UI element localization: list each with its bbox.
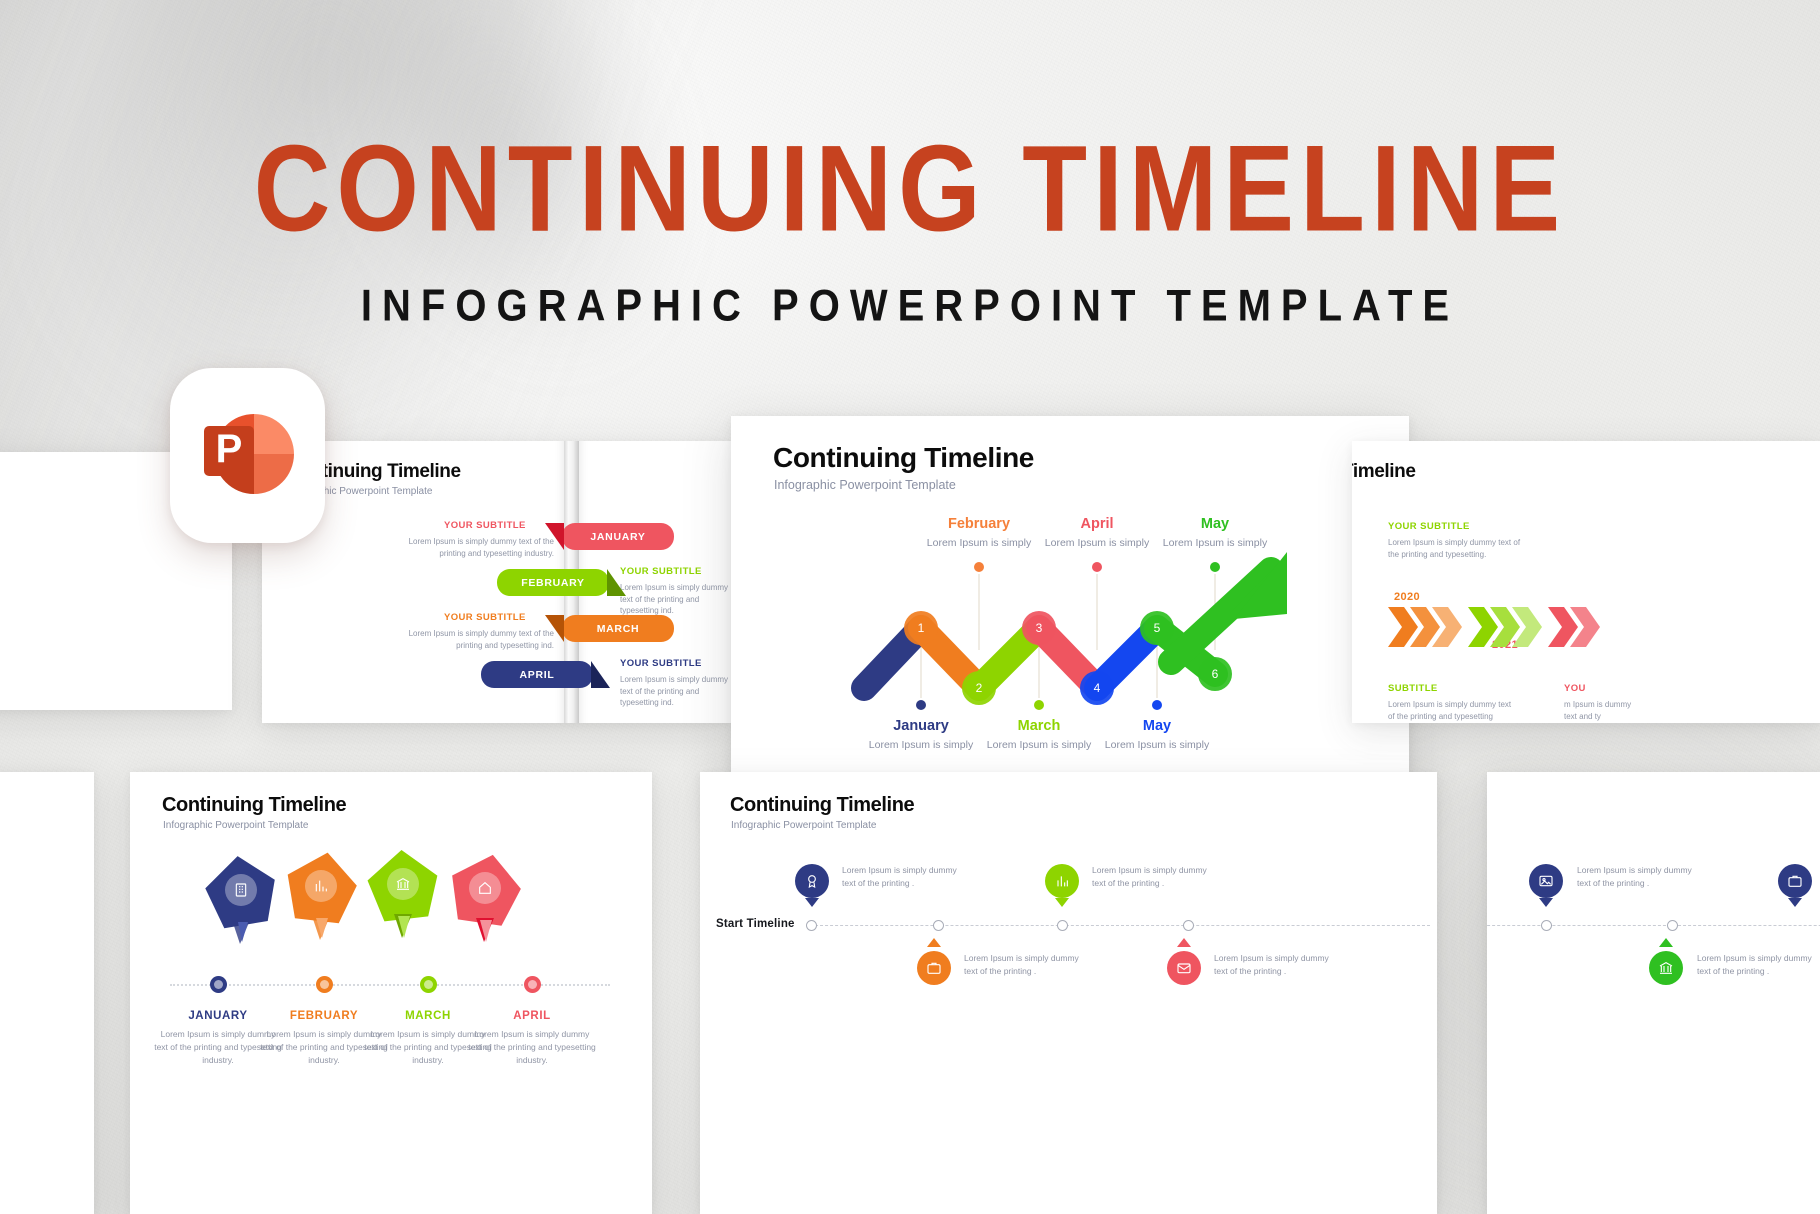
- month-body-april: Lorem Ipsum is simply dummy text of the …: [468, 1028, 596, 1066]
- page-title: CONTINUING TIMELINE: [0, 128, 1820, 251]
- poster-canvas: CONTINUING TIMELINE INFOGRAPHIC POWERPOI…: [0, 0, 1820, 1214]
- chart-bar-icon: [313, 878, 329, 894]
- axis-node-1[interactable]: [933, 920, 944, 931]
- chart-bar-icon: [1054, 873, 1070, 889]
- node-body-orange: Lorem Ipsum is simply dummy text of the …: [964, 952, 1084, 978]
- timeline-dot-march[interactable]: [420, 976, 437, 993]
- slide-g-title: Continuing Timeline: [730, 794, 914, 817]
- briefcase-icon: [1787, 873, 1803, 889]
- zz-body-january: Lorem Ipsum is simply: [856, 738, 986, 753]
- node-pointer-navy-right: [1539, 898, 1553, 907]
- chevrons-orange: [1388, 607, 1462, 647]
- page-subtitle: INFOGRAPHIC POWERPOINT TEMPLATE: [0, 281, 1820, 331]
- timeline-axis-right: [1487, 925, 1820, 926]
- timeline-dot-february[interactable]: [316, 976, 333, 993]
- slide-b-sub-3: YOUR SUBTITLE: [444, 612, 526, 623]
- slide-b-banner-april[interactable]: APRIL: [481, 661, 593, 688]
- zz-label-march: March: [974, 718, 1104, 734]
- timeline-axis: [810, 925, 1430, 926]
- node-pointer-green: [1055, 898, 1069, 907]
- chevrons-green: [1468, 607, 1542, 647]
- axis-node-r0[interactable]: [1541, 920, 1552, 931]
- node-bubble-green-right[interactable]: [1649, 951, 1683, 985]
- zz-body-may-bottom: Lorem Ipsum is simply: [1092, 738, 1222, 753]
- slide-b-banner-january[interactable]: JANUARY: [562, 523, 674, 550]
- slide-preview-zigzag[interactable]: Continuing Timeline Infographic Powerpoi…: [731, 416, 1409, 797]
- slide-c-subtitle: Infographic Powerpoint Template: [774, 478, 956, 492]
- dot-march: [1034, 700, 1044, 710]
- badge-icon: [804, 873, 820, 889]
- slide-preview-pentagon-pins[interactable]: Continuing Timeline Infographic Powerpoi…: [130, 772, 652, 1214]
- bubble-label-6: 6: [1212, 667, 1219, 681]
- slide-b-sub-1: YOUR SUBTITLE: [444, 520, 526, 531]
- bank-icon: [395, 876, 411, 892]
- hero-block: CONTINUING TIMELINE INFOGRAPHIC POWERPOI…: [0, 128, 1820, 329]
- timeline-dot-january[interactable]: [210, 976, 227, 993]
- node-pointer-navy: [805, 898, 819, 907]
- zz-body-april: Lorem Ipsum is simply: [1032, 536, 1162, 551]
- building-icon: [233, 882, 249, 898]
- bubble-label-2: 2: [976, 681, 983, 695]
- slide-b-body-4: Lorem Ipsum is simply dummy text of the …: [620, 674, 732, 709]
- zz-label-april: April: [1032, 516, 1162, 532]
- node-body-green: Lorem Ipsum is simply dummy text of the …: [1092, 864, 1212, 890]
- slide-preview-signpost-pole[interactable]: Continuing Timeline Infographic Powerpoi…: [262, 441, 732, 723]
- node-body-navy-right: Lorem Ipsum is simply dummy text of the …: [1577, 864, 1697, 890]
- chevrons-pink: [1548, 607, 1600, 647]
- timeline-dotted-line: [170, 984, 610, 986]
- month-label-april: APRIL: [468, 1010, 596, 1022]
- zz-body-march: Lorem Ipsum is simply: [974, 738, 1104, 753]
- slide-d-body-2: Lorem Ipsum is simply dummy text of the …: [1388, 699, 1518, 723]
- dot-february: [974, 562, 984, 572]
- node-bubble-orange[interactable]: [917, 951, 951, 985]
- slide-preview-left-partial[interactable]: R SUBTITLE the printing and 02:00: [0, 772, 94, 1214]
- slide-d-sub-2: SUBTITLE: [1388, 683, 1438, 694]
- node-pointer-pink: [1177, 938, 1191, 947]
- bubble-label-3: 3: [1036, 621, 1043, 635]
- zz-label-january: January: [856, 718, 986, 734]
- node-bubble-navy-right2[interactable]: [1778, 864, 1812, 898]
- pin-february[interactable]: [288, 854, 354, 920]
- powerpoint-app-badge: P: [170, 368, 325, 543]
- slide-d-title: Timeline: [1352, 461, 1416, 483]
- dot-may-top: [1210, 562, 1220, 572]
- slide-preview-start-timeline[interactable]: Continuing Timeline Infographic Powerpoi…: [700, 772, 1437, 1214]
- zz-body-may-top: Lorem Ipsum is simply: [1150, 536, 1280, 551]
- slide-b-body-3: Lorem Ipsum is simply dummy text of the …: [390, 628, 554, 651]
- zz-label-february: February: [914, 516, 1044, 532]
- slide-d-sub-1: YOUR SUBTITLE: [1388, 521, 1470, 532]
- axis-node-r1[interactable]: [1667, 920, 1678, 931]
- node-bubble-navy-right[interactable]: [1529, 864, 1563, 898]
- zigzag-chart: 1 2 3 4 5 6 February Lorem Ipsum is simp…: [731, 502, 1409, 792]
- slide-b-body-1: Lorem Ipsum is simply dummy text of the …: [390, 536, 554, 559]
- bubble-label-1: 1: [918, 621, 925, 635]
- axis-node-0[interactable]: [806, 920, 817, 931]
- slide-c-title: Continuing Timeline: [773, 442, 1034, 474]
- dot-may-bottom: [1152, 700, 1162, 710]
- node-bubble-green[interactable]: [1045, 864, 1079, 898]
- banner-fold-april: [591, 661, 610, 688]
- mail-icon: [1176, 960, 1192, 976]
- node-bubble-pink[interactable]: [1167, 951, 1201, 985]
- home-icon: [477, 880, 493, 896]
- node-pointer-navy-right2: [1788, 898, 1802, 907]
- dot-april: [1092, 562, 1102, 572]
- node-bubble-navy[interactable]: [795, 864, 829, 898]
- node-body-navy: Lorem Ipsum is simply dummy text of the …: [842, 864, 962, 890]
- slide-preview-right-partial[interactable]: Lorem Ipsum is simply dummy text of the …: [1487, 772, 1820, 1214]
- slide-d-sub-3: YOU: [1564, 683, 1586, 694]
- pin-january[interactable]: [208, 858, 274, 924]
- slide-b-banner-february[interactable]: FEBRUARY: [497, 569, 609, 596]
- bubble-label-5: 5: [1154, 621, 1161, 635]
- node-pointer-orange: [927, 938, 941, 947]
- zz-label-may-top: May: [1150, 516, 1280, 532]
- slide-g-subtitle: Infographic Powerpoint Template: [731, 820, 876, 831]
- powerpoint-icon: P: [192, 400, 304, 512]
- node-body-green-right: Lorem Ipsum is simply dummy text of the …: [1697, 952, 1817, 978]
- axis-node-3[interactable]: [1183, 920, 1194, 931]
- pin-march[interactable]: [370, 852, 436, 918]
- dot-january: [916, 700, 926, 710]
- briefcase-icon: [926, 960, 942, 976]
- slide-preview-chevrons[interactable]: Timeline YOUR SUBTITLE Lorem Ipsum is si…: [1352, 441, 1820, 723]
- chevron-strip: [1388, 593, 1820, 713]
- slide-d-body-3: m Ipsum is dummy text and ty: [1564, 699, 1634, 722]
- pin-icon-bg-april: [469, 872, 501, 904]
- zz-label-may-bottom: May: [1092, 718, 1222, 734]
- image-icon: [1538, 873, 1554, 889]
- slide-b-banner-march[interactable]: MARCH: [562, 615, 674, 642]
- pin-icon-bg-february: [305, 870, 337, 902]
- bank-icon: [1658, 960, 1674, 976]
- axis-node-2[interactable]: [1057, 920, 1068, 931]
- pin-icon-bg-march: [387, 868, 419, 900]
- bubble-label-4: 4: [1094, 681, 1101, 695]
- timeline-dot-april[interactable]: [524, 976, 541, 993]
- slide-d-body-1: Lorem Ipsum is simply dummy text of the …: [1388, 537, 1526, 560]
- zz-body-february: Lorem Ipsum is simply: [914, 536, 1044, 551]
- slide-f-title: Continuing Timeline: [162, 794, 346, 817]
- pin-icon-bg-january: [225, 874, 257, 906]
- slide-b-sub-4: YOUR SUBTITLE: [620, 658, 702, 669]
- node-body-pink: Lorem Ipsum is simply dummy text of the …: [1214, 952, 1334, 978]
- node-pointer-green-right: [1659, 938, 1673, 947]
- slide-b-sub-2: YOUR SUBTITLE: [620, 566, 702, 577]
- slide-b-body-2: Lorem Ipsum is simply dummy text of the …: [620, 582, 732, 617]
- pin-april[interactable]: [452, 856, 518, 922]
- start-timeline-label: Start Timeline: [716, 918, 795, 930]
- powerpoint-letter: P: [215, 427, 242, 471]
- slide-f-subtitle: Infographic Powerpoint Template: [163, 820, 308, 831]
